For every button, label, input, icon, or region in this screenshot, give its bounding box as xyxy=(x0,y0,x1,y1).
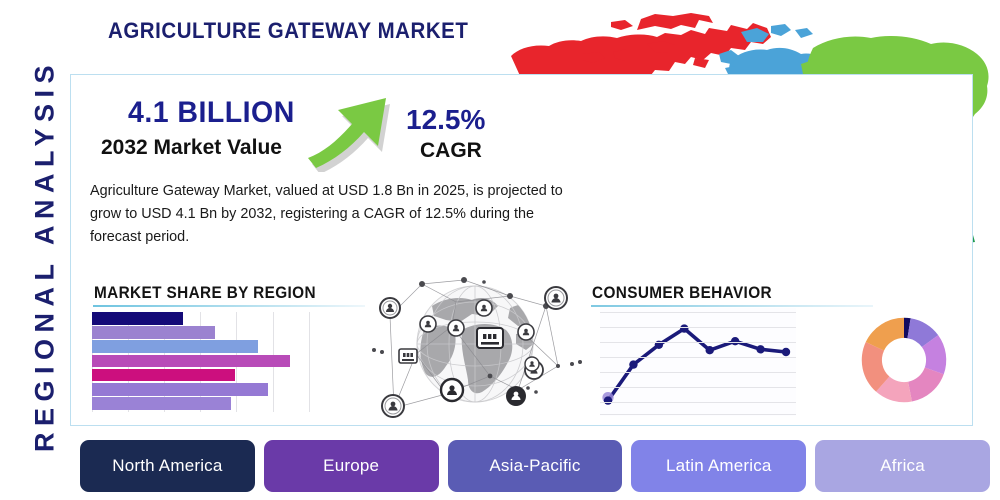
line-point-8 xyxy=(782,348,790,356)
line-point-5 xyxy=(706,346,714,354)
consumer-behavior-title: CONSUMER BEHAVIOR xyxy=(592,284,772,303)
market-share-title: MARKET SHARE BY REGION xyxy=(94,284,316,303)
market-share-rule xyxy=(93,305,365,307)
region-legend: North AmericaEuropeAsia-PacificLatin Ame… xyxy=(80,440,990,492)
bar-chart-rows xyxy=(92,312,310,412)
cagr-number: 12.5% xyxy=(406,104,485,136)
market-value-number: 4.1 BILLION xyxy=(128,96,295,130)
line-chart-series xyxy=(600,308,796,416)
line-point-4 xyxy=(680,324,688,332)
bar-6 xyxy=(92,383,268,396)
donut-segment-4 xyxy=(908,367,944,401)
bar-row xyxy=(92,397,310,410)
region-pill-latin-america[interactable]: Latin America xyxy=(631,440,806,492)
bar-5 xyxy=(92,369,235,382)
market-value-label: 2032 Market Value xyxy=(101,136,282,160)
infographic-root: REGIONAL ANALYSIS AGRICULTURE GATEWAY MA… xyxy=(0,0,1000,500)
bar-row xyxy=(92,340,310,353)
bar-7 xyxy=(92,397,231,410)
bar-row xyxy=(92,312,310,325)
side-title: REGIONAL ANALYSIS xyxy=(30,56,61,456)
consumer-behavior-line-chart xyxy=(600,308,796,416)
page-title: AGRICULTURE GATEWAY MARKET xyxy=(108,18,468,44)
global-network-globe-icon xyxy=(360,268,590,423)
bar-row xyxy=(92,383,310,396)
bar-row xyxy=(92,369,310,382)
region-pill-asia-pacific[interactable]: Asia-Pacific xyxy=(448,440,623,492)
bar-1 xyxy=(92,312,183,325)
donut-chart xyxy=(856,312,952,408)
line-point-7 xyxy=(756,345,764,353)
bar-3 xyxy=(92,340,258,353)
market-share-bar-chart xyxy=(92,312,310,412)
growth-arrow-icon xyxy=(308,88,408,172)
region-pill-africa[interactable]: Africa xyxy=(815,440,990,492)
consumer-behavior-rule xyxy=(591,305,873,307)
description-text: Agriculture Gateway Market, valued at US… xyxy=(90,180,582,249)
bar-2 xyxy=(92,326,215,339)
region-pill-north-america[interactable]: North America xyxy=(80,440,255,492)
line-point-1 xyxy=(604,396,612,404)
bar-row xyxy=(92,355,310,368)
line-point-2 xyxy=(629,360,637,368)
bar-row xyxy=(92,326,310,339)
region-pill-europe[interactable]: Europe xyxy=(264,440,439,492)
bar-4 xyxy=(92,355,290,368)
cagr-label: CAGR xyxy=(420,139,482,163)
